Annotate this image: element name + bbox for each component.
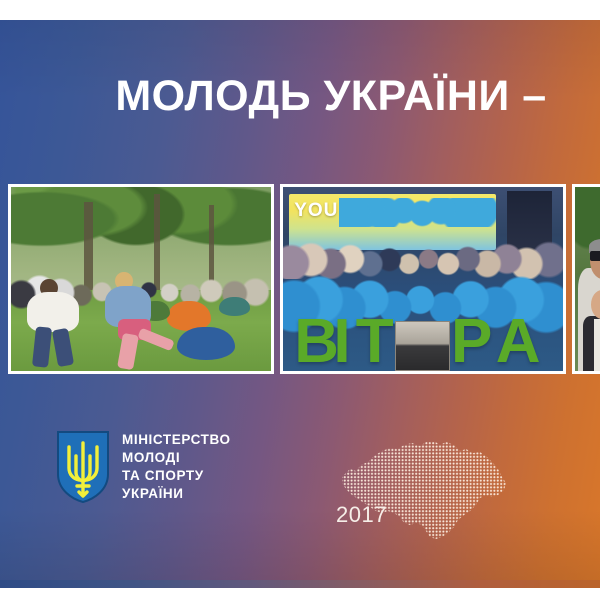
prop-letter: А [496,313,541,371]
person-torso-white-shirt [27,292,79,332]
photo-crowd-blue-shirts: YOU В І Т Р А [280,184,566,374]
ministry-name: МІНІСТЕРСТВО МОЛОДІ ТА СПОРТУ УКРАЇНИ [122,431,231,503]
ministry-logo: МІНІСТЕРСТВО МОЛОДІ ТА СПОРТУ УКРАЇНИ [56,430,231,504]
photo-portrait-cropped [572,184,600,374]
ministry-line-4: УКРАЇНИ [122,485,231,503]
ukraine-dotted-map-icon [330,425,530,550]
banner-figures-graphic [339,198,496,227]
equipment-case [395,321,450,371]
photo-strip: YOU В І Т Р А [8,184,600,374]
photo-park-youth-games [8,184,274,374]
prop-letter: І [333,313,350,371]
ministry-line-1: МІНІСТЕРСТВО [122,431,231,449]
ukraine-trident-shield-icon [56,430,110,504]
child-shirt [594,319,600,371]
slide-headline: МОЛОДЬ УКРАЇНИ – [0,68,600,124]
beanbag-teal [219,297,250,315]
bottom-white-band [0,588,600,600]
prop-letter: Т [356,313,394,371]
prop-letter: Р [451,313,492,371]
presentation-slide: МОЛОДЬ УКРАЇНИ – [0,0,600,600]
ministry-line-3: ТА СПОРТУ [122,467,231,485]
top-white-band [0,0,600,20]
beanbag-blue [177,327,234,360]
background-bottom-seam [0,580,600,588]
sunglasses-icon [590,251,600,260]
ministry-line-2: МОЛОДІ [122,449,231,467]
banner-text: YOU [294,200,338,222]
year-label: 2017 [336,502,387,528]
